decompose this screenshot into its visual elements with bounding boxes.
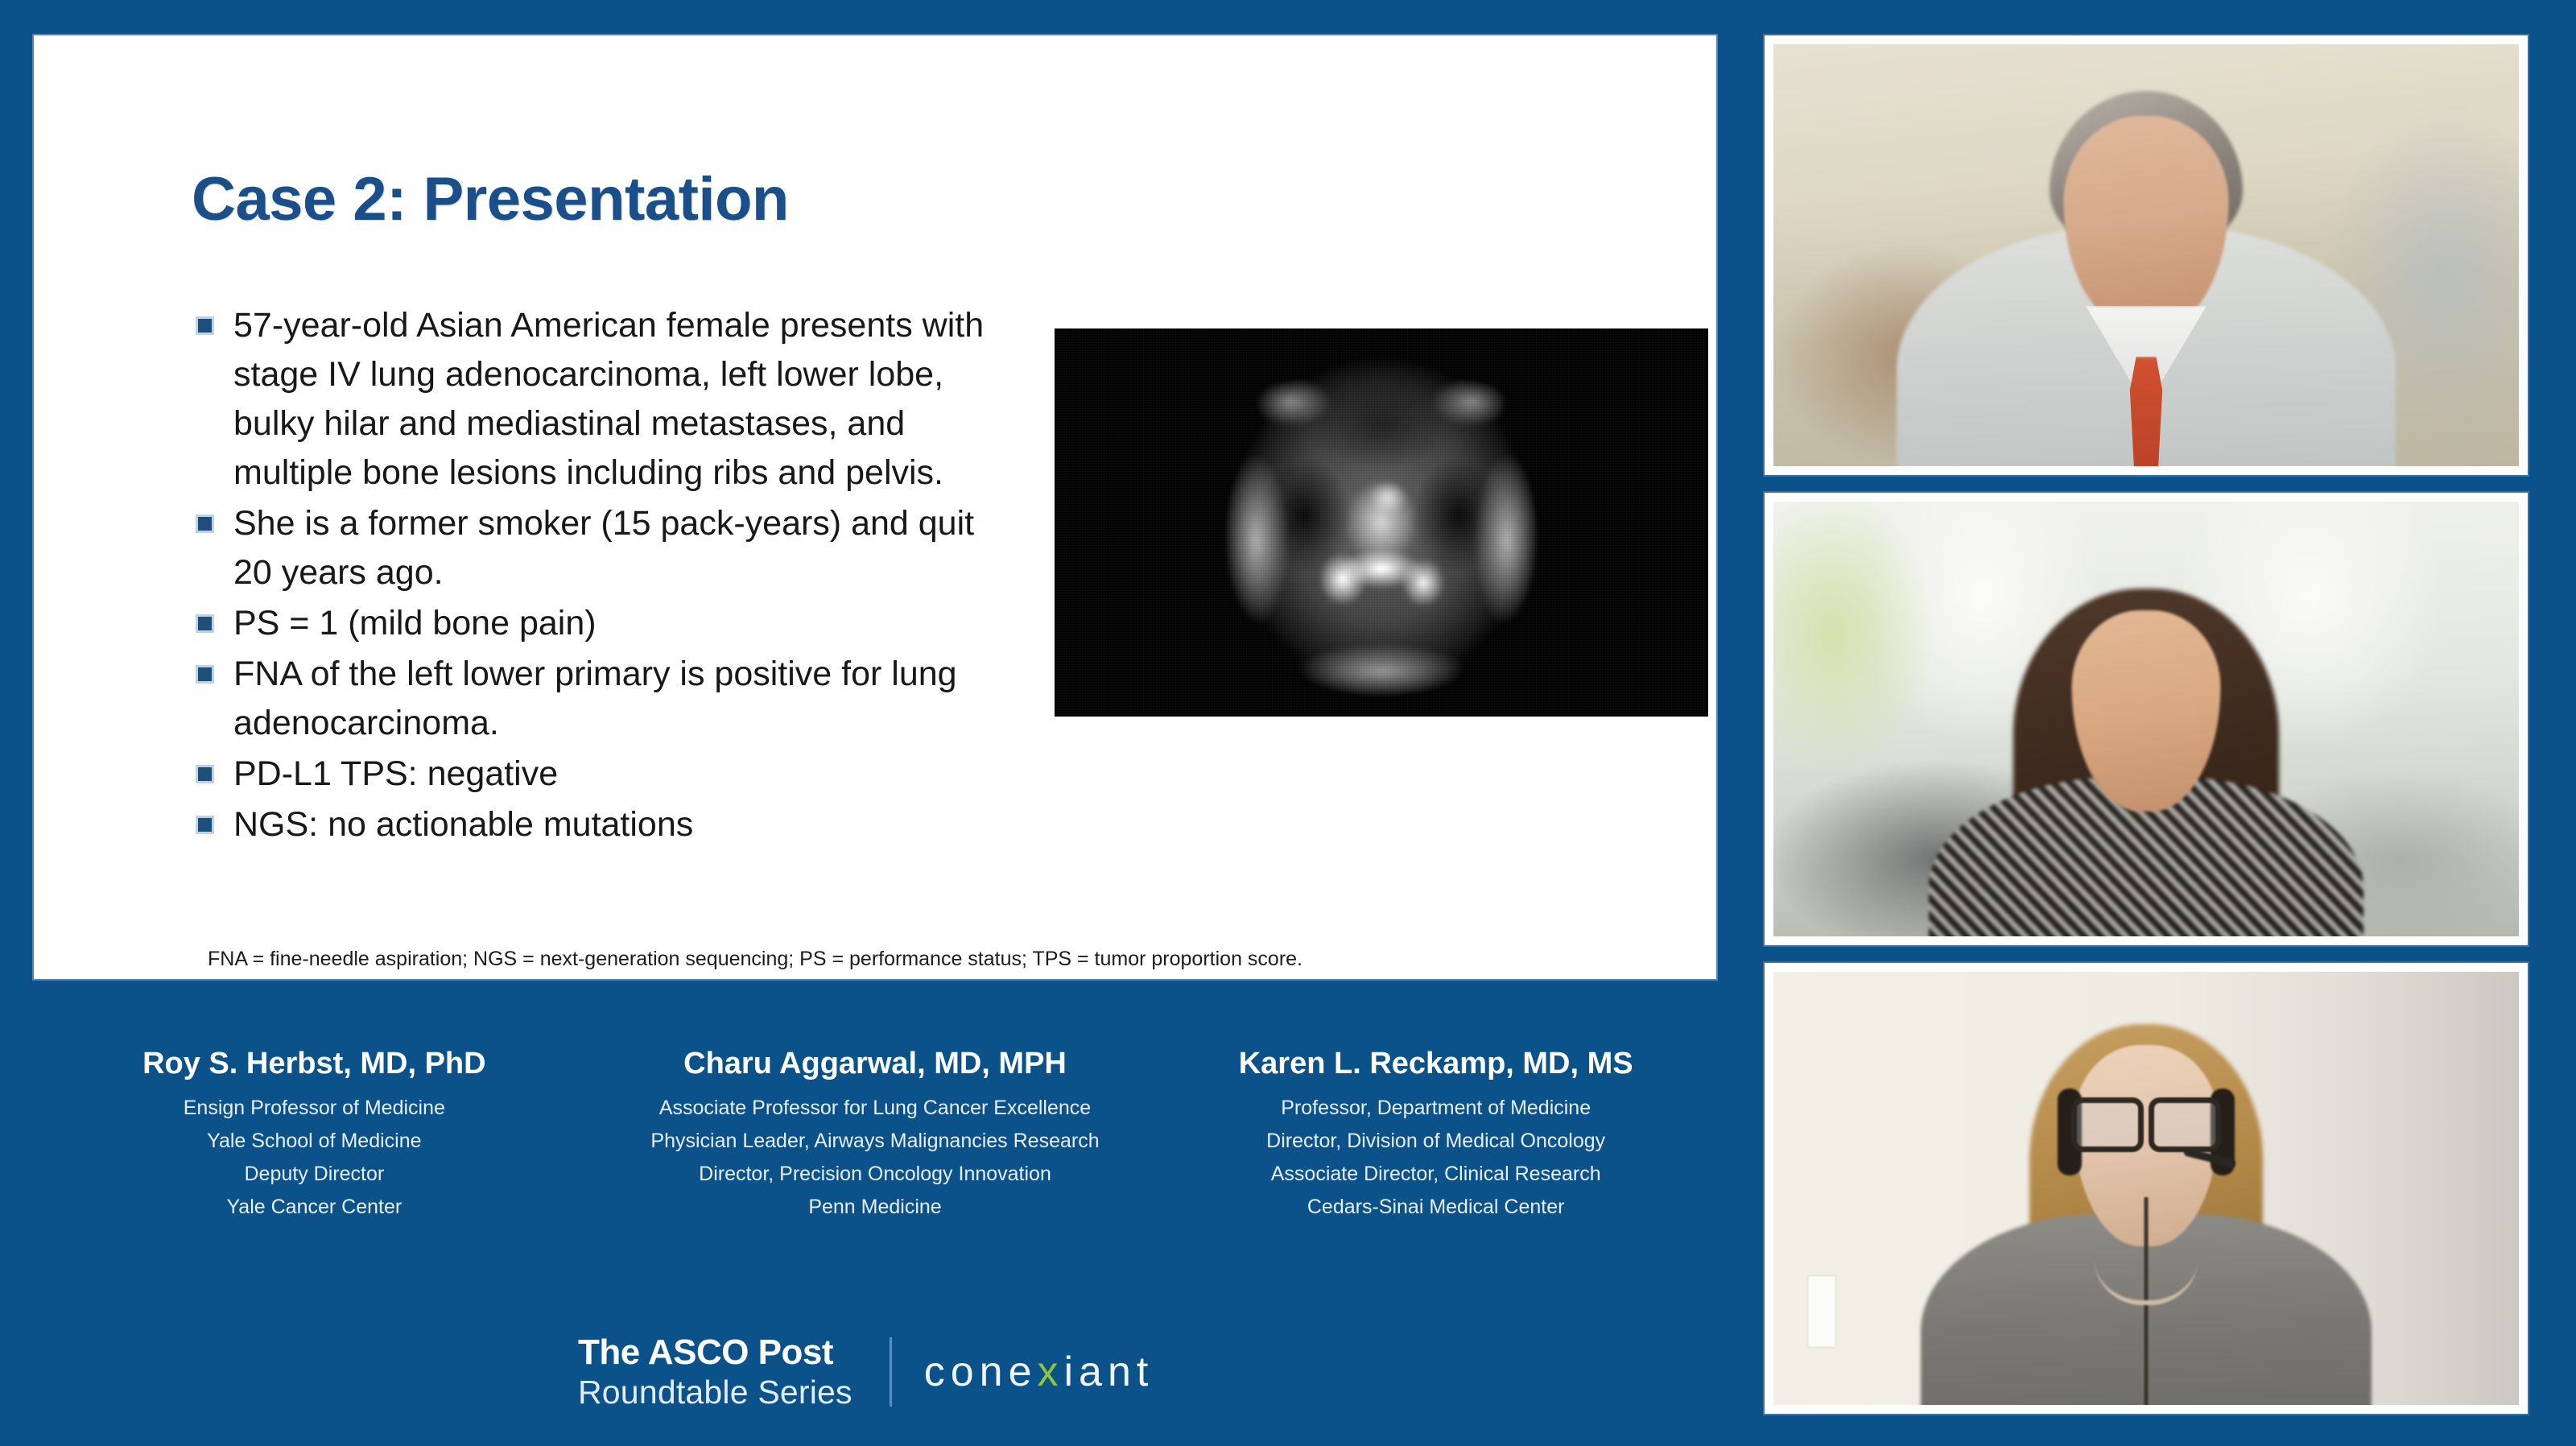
presenter-name: Karen L. Reckamp, MD, MS — [1155, 1047, 1716, 1081]
video-feed[interactable] — [1773, 502, 2519, 936]
presenter-name: Charu Aggarwal, MD, MPH — [595, 1047, 1156, 1081]
wall-light-switch — [1807, 1275, 1836, 1348]
presenter-title-line: Penn Medicine — [595, 1191, 1156, 1224]
bullet-text: 57-year-old Asian American female presen… — [233, 306, 984, 492]
eyeglasses-icon — [2071, 1097, 2221, 1141]
presenter-credit: Charu Aggarwal, MD, MPH Associate Profes… — [595, 1047, 1156, 1224]
presenter-title-line: Yale School of Medicine — [34, 1125, 595, 1158]
presenter-title-line: Ensign Professor of Medicine — [34, 1092, 595, 1125]
bullet-item: 57-year-old Asian American female presen… — [192, 301, 1021, 498]
presenter-credits: Roy S. Herbst, MD, PhD Ensign Professor … — [34, 1047, 1716, 1224]
asco-post-logo-line2: Roundtable Series — [578, 1376, 852, 1409]
participant-face — [2064, 116, 2229, 329]
presenter-title-line: Director, Precision Oncology Innovation — [595, 1158, 1156, 1191]
slide-title: Case 2: Presentation — [192, 164, 789, 234]
presenter-title-line: Deputy Director — [34, 1158, 595, 1191]
bullet-text: FNA of the left lower primary is positiv… — [233, 655, 957, 742]
bullet-item: She is a former smoker (15 pack-years) a… — [192, 499, 1021, 597]
presenter-title-line: Associate Professor for Lung Cancer Exce… — [595, 1092, 1156, 1125]
video-tile-aggarwal[interactable] — [1765, 493, 2528, 945]
presenter-title-line: Director, Division of Medical Oncology — [1155, 1125, 1716, 1158]
bullet-square-icon — [198, 818, 212, 832]
bullet-item: NGS: no actionable mutations — [192, 800, 1021, 849]
conexiant-logo-pre: cone — [924, 1349, 1038, 1395]
presenter-title-line: Physician Leader, Airways Malignancies R… — [595, 1125, 1156, 1158]
presenter-name: Roy S. Herbst, MD, PhD — [34, 1047, 595, 1081]
bullet-square-icon — [198, 617, 212, 630]
video-feed[interactable] — [1773, 44, 2519, 466]
bullet-text: PD-L1 TPS: negative — [233, 754, 558, 793]
presenter-title-line: Cedars-Sinai Medical Center — [1155, 1191, 1716, 1224]
conexiant-logo-x: x — [1038, 1349, 1064, 1395]
pet-scan-body — [1220, 345, 1542, 700]
footer-logo-bar: The ASCO Post Roundtable Series conexian… — [578, 1335, 1154, 1409]
presenter-title-line: Yale Cancer Center — [34, 1191, 595, 1224]
bullet-item: PS = 1 (mild bone pain) — [192, 599, 1021, 648]
bullet-text: NGS: no actionable mutations — [233, 805, 693, 844]
logo-divider — [890, 1337, 892, 1407]
bullet-square-icon — [198, 767, 212, 781]
bullet-item: PD-L1 TPS: negative — [192, 750, 1021, 799]
presenter-credit: Karen L. Reckamp, MD, MS Professor, Depa… — [1155, 1047, 1716, 1224]
presenter-title-line: Associate Director, Clinical Research — [1155, 1158, 1716, 1191]
presenter-title-line: Professor, Department of Medicine — [1155, 1092, 1716, 1125]
bullet-square-icon — [198, 517, 212, 531]
slide-bullet-list: 57-year-old Asian American female presen… — [192, 301, 1021, 851]
video-tile-herbst[interactable] — [1765, 35, 2528, 475]
bullet-text: PS = 1 (mild bone pain) — [233, 604, 597, 642]
presentation-slide: Case 2: Presentation 57-year-old Asian A… — [34, 35, 1716, 979]
bullet-square-icon — [198, 667, 212, 681]
bullet-text: She is a former smoker (15 pack-years) a… — [233, 504, 974, 592]
presenter-credit: Roy S. Herbst, MD, PhD Ensign Professor … — [34, 1047, 595, 1224]
pet-scan-image — [1055, 328, 1708, 717]
video-feed[interactable] — [1773, 972, 2519, 1405]
asco-post-logo: The ASCO Post Roundtable Series — [578, 1335, 852, 1409]
conexiant-logo: conexiant — [924, 1348, 1154, 1396]
asco-post-logo-line1: The ASCO Post — [578, 1335, 852, 1370]
conexiant-logo-post: iant — [1064, 1349, 1154, 1395]
video-tile-reckamp[interactable] — [1765, 963, 2528, 1414]
bullet-square-icon — [198, 319, 212, 333]
slide-footnote: FNA = fine-needle aspiration; NGS = next… — [208, 948, 1302, 971]
bullet-item: FNA of the left lower primary is positiv… — [192, 650, 1021, 748]
